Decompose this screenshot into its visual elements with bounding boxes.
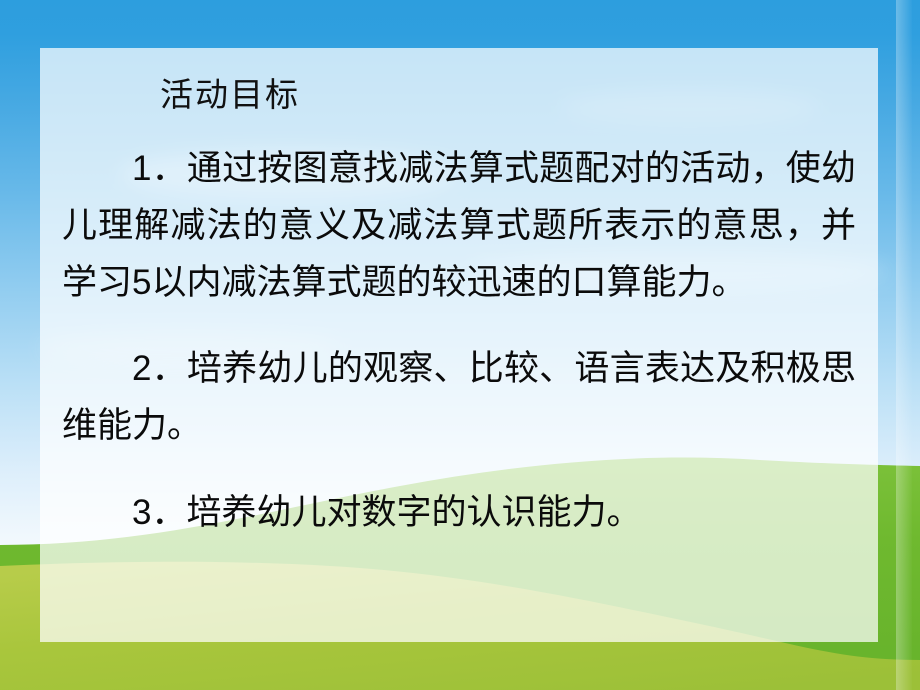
- objective-item-2: 2．培养幼儿的观察、比较、语言表达及积极思维能力。: [62, 341, 856, 454]
- page-title: 活动目标: [160, 74, 856, 115]
- content-panel: 活动目标 1．通过按图意找减法算式题配对的活动，使幼儿理解减法的意义及减法算式题…: [40, 48, 878, 642]
- objective-item-3: 3．培养幼儿对数字的认识能力。: [62, 485, 856, 542]
- content-panel-inner: 活动目标 1．通过按图意找减法算式题配对的活动，使幼儿理解减法的意义及减法算式题…: [40, 48, 878, 642]
- slide-canvas: 活动目标 1．通过按图意找减法算式题配对的活动，使幼儿理解减法的意义及减法算式题…: [0, 0, 920, 690]
- objective-item-1: 1．通过按图意找减法算式题配对的活动，使幼儿理解减法的意义及减法算式题所表示的意…: [62, 141, 856, 311]
